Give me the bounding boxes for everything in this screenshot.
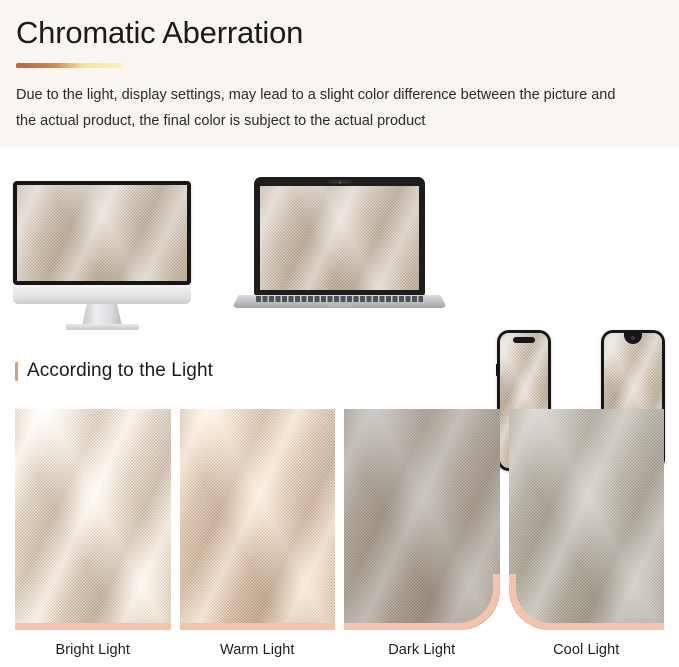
swatch-bottom-edge [180, 623, 336, 630]
section-heading-label: According to the Light [27, 360, 213, 382]
monitor-bezel [13, 181, 191, 285]
laptop-keyboard [256, 296, 423, 302]
swatch-cell-bright-light: Bright Light [15, 409, 171, 661]
header-band: Chromatic Aberration Due to the light, d… [0, 0, 679, 147]
laptop-camera-icon [338, 181, 341, 184]
monitor-stand-neck [82, 304, 122, 326]
swatch-cell-warm-light: Warm Light [180, 409, 336, 661]
title-accent-gradient-bar [16, 63, 123, 68]
swatch-cell-dark-light: Dark Light [344, 409, 500, 661]
laptop-mockup [232, 177, 447, 327]
chromatic-aberration-page: Chromatic Aberration Due to the light, d… [0, 0, 679, 667]
laptop-screen [260, 186, 419, 290]
phone-side-button [496, 364, 498, 376]
desktop-monitor-mockup [13, 181, 191, 326]
swatch-image [15, 409, 171, 630]
light-condition-grid: Bright Light Warm Light Dark Light Cool … [15, 409, 664, 661]
section-heading: According to the Light [15, 360, 213, 382]
fabric-texture [180, 409, 336, 630]
fabric-texture [344, 409, 500, 630]
swatch-image [509, 409, 665, 630]
swatch-image [344, 409, 500, 630]
dynamic-island-icon [513, 337, 535, 343]
page-title: Chromatic Aberration [16, 14, 303, 51]
monitor-chin [13, 285, 191, 304]
device-showcase [0, 147, 679, 347]
swatch-cell-cool-light: Cool Light [509, 409, 665, 661]
front-camera-icon [631, 336, 635, 340]
monitor-screen [17, 185, 187, 281]
fabric-texture [509, 409, 665, 630]
intro-description: Due to the light, display settings, may … [16, 82, 631, 134]
fabric-texture [260, 186, 419, 290]
monitor-stand-foot [66, 324, 139, 330]
laptop-lid [254, 177, 425, 295]
swatch-bottom-edge [15, 623, 171, 630]
heading-accent-tick [15, 362, 18, 381]
swatch-image [180, 409, 336, 630]
swatch-label: Bright Light [15, 642, 171, 658]
swatch-label: Cool Light [509, 642, 665, 658]
swatch-label: Warm Light [180, 642, 336, 658]
swatch-label: Dark Light [344, 642, 500, 658]
fabric-texture [15, 409, 171, 630]
fabric-texture [17, 185, 187, 281]
laptop-trackpad-notch [327, 303, 353, 307]
